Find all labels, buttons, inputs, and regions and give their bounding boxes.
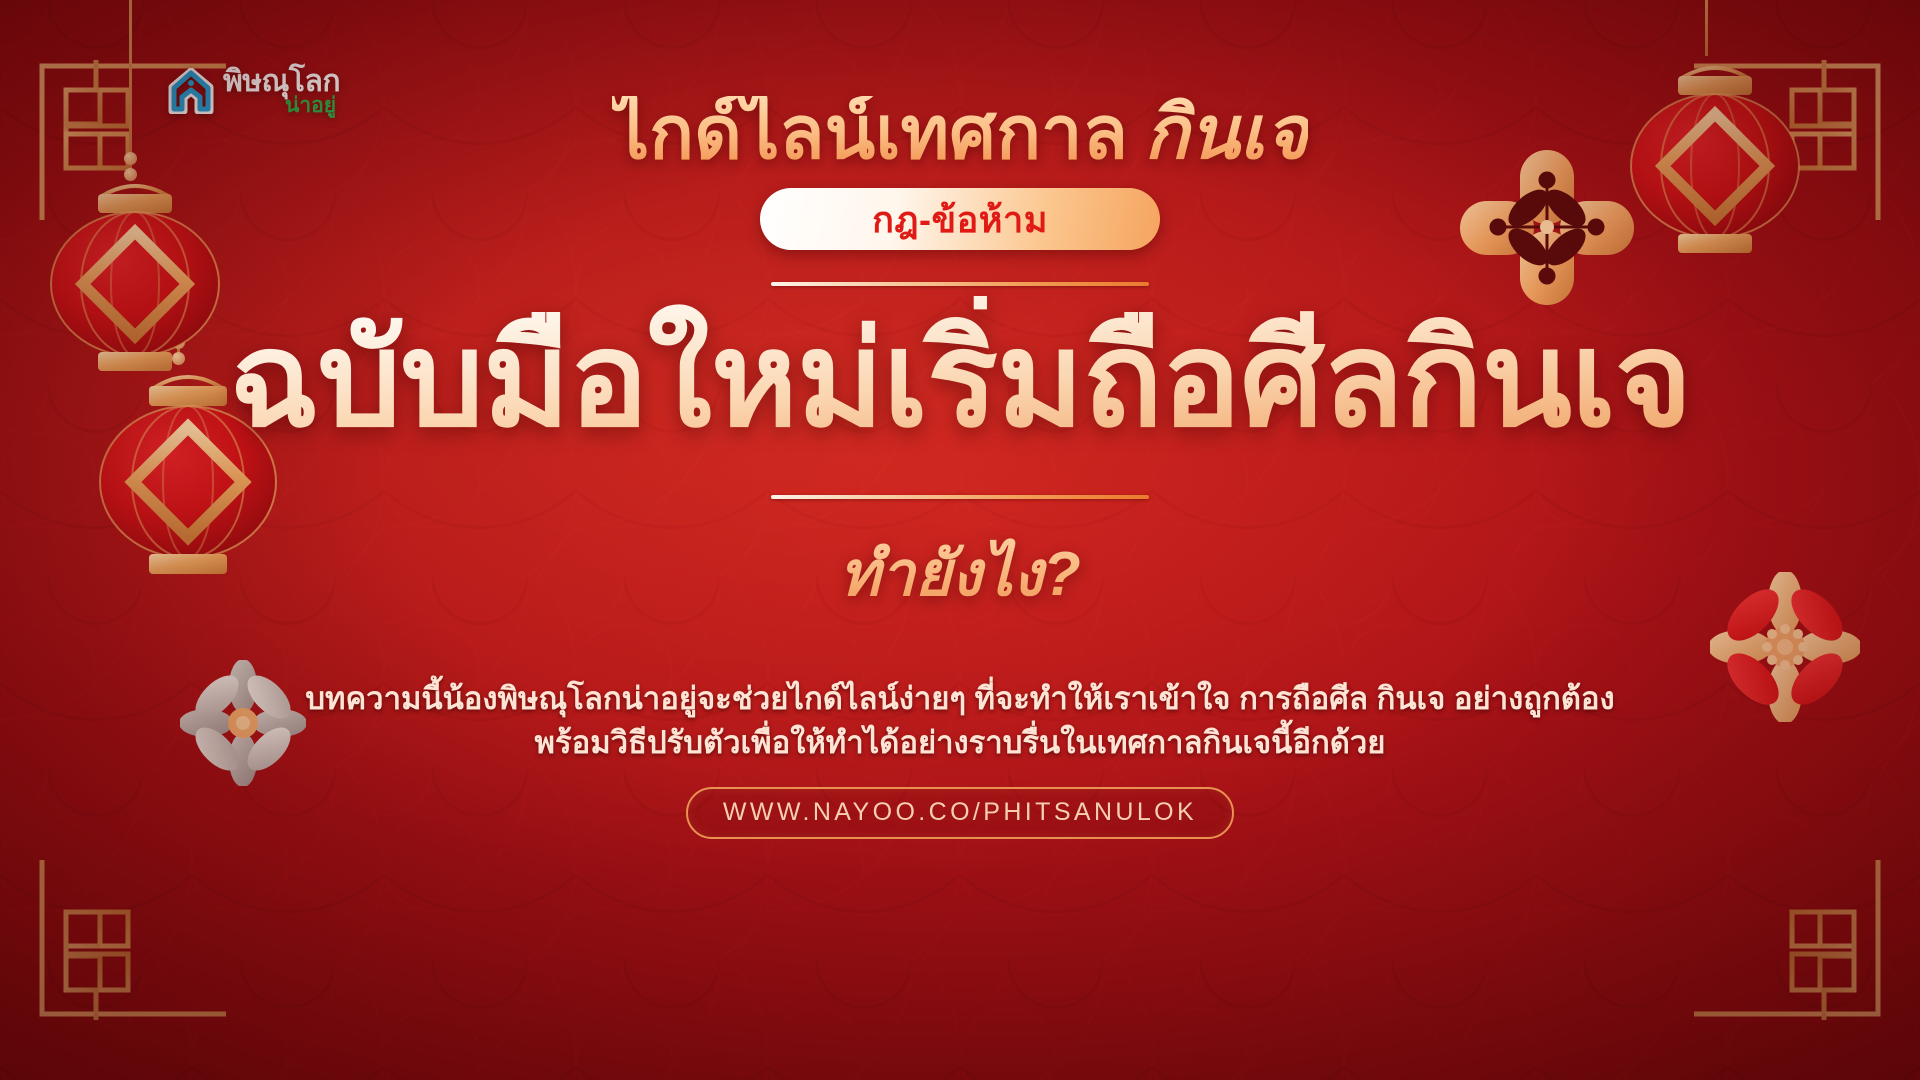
body-line-1: บทความนี้น้องพิษณุโลกน่าอยู่จะช่วยไกด์ไล… [305, 681, 1614, 716]
title-italic: กินเจ [1144, 96, 1308, 170]
main-headline: ฉบับมือใหม่เริ่มถือศีลกินเจ [229, 296, 1692, 465]
corner-frame-bottom-right [1694, 860, 1884, 1050]
rules-badge: กฎ-ข้อห้าม [760, 188, 1160, 250]
corner-frame-bottom-left [36, 860, 226, 1050]
rules-badge-label: กฎ-ข้อห้าม [872, 191, 1048, 248]
title-row: ไกด์ไลน์เทศกาล กินเจ [612, 96, 1308, 170]
body-line-2: พร้อมวิธีปรับตัวเพื่อให้ทำได้อย่างราบรื่… [305, 721, 1614, 765]
poster-content: ไกด์ไลน์เทศกาล กินเจ กฎ-ข้อห้าม ฉบับมือใ… [0, 0, 1920, 839]
poster-canvas: พิษณุโลก น่าอยู่ ไกด์ไลน์เทศกาล กินเจ กฎ… [0, 0, 1920, 1080]
website-url-text: WWW.NAYOO.CO/PHITSANULOK [723, 798, 1197, 827]
divider-top [771, 282, 1149, 286]
divider-bottom [771, 495, 1149, 499]
website-url-pill[interactable]: WWW.NAYOO.CO/PHITSANULOK [686, 787, 1234, 839]
title-normal: ไกด์ไลน์เทศกาล [612, 96, 1128, 170]
body-copy: บทความนี้น้องพิษณุโลกน่าอยู่จะช่วยไกด์ไล… [305, 677, 1614, 765]
question-text: ทำยังไง? [839, 525, 1081, 623]
